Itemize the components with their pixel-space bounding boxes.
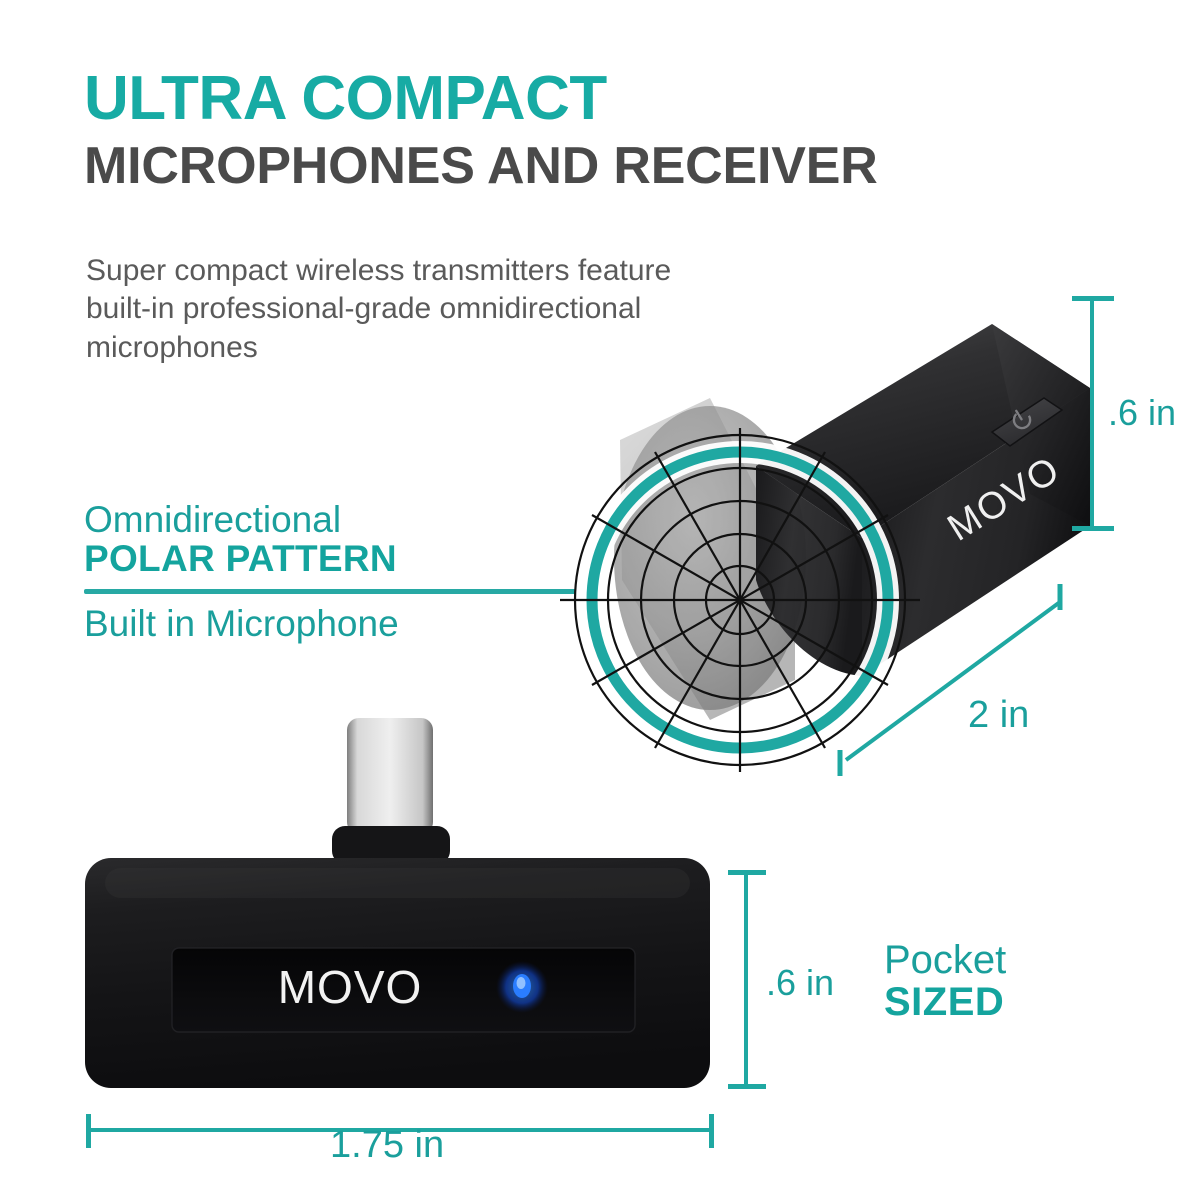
dim-cap-top-tx xyxy=(1072,296,1114,301)
dimension-label-transmitter-height: .6 in xyxy=(1108,392,1176,434)
dim-cap-left-rx xyxy=(86,1114,91,1148)
dim-cap-right-rx xyxy=(709,1114,714,1148)
polar-pattern-line2: POLAR PATTERN xyxy=(84,539,584,579)
dim-line-vertical-rx xyxy=(744,872,748,1088)
page-title-line1: ULTRA COMPACT xyxy=(84,68,607,130)
dim-cap-bottom-tx xyxy=(1072,526,1114,531)
dimension-label-receiver-width: 1.75 in xyxy=(330,1124,444,1167)
dim-cap-bottom-rx xyxy=(728,1084,766,1089)
dim-cap-top-rx xyxy=(728,870,766,875)
pocket-sized-callout: Pocket SIZED xyxy=(884,940,1006,1023)
page-title-line2: MICROPHONES AND RECEIVER xyxy=(84,140,878,192)
divider-rule xyxy=(84,589,576,594)
receiver-highlight xyxy=(105,868,690,898)
infographic-canvas: ULTRA COMPACT MICROPHONES AND RECEIVER S… xyxy=(0,0,1200,1200)
receiver-illustration: MOVO xyxy=(60,700,780,1120)
polar-pattern-line3: Built in Microphone xyxy=(84,604,584,645)
receiver-logo-text: MOVO xyxy=(278,961,423,1013)
receiver-device: MOVO xyxy=(60,700,780,1120)
dim-line-diagonal-tx xyxy=(820,560,1100,790)
dimension-label-receiver-height: .6 in xyxy=(766,962,834,1004)
pocket-label-line2: SIZED xyxy=(884,982,1006,1024)
usb-c-connector xyxy=(332,718,450,864)
status-led xyxy=(496,961,548,1013)
dimension-label-transmitter-length: 2 in xyxy=(968,694,1029,737)
dim-line-vertical-tx xyxy=(1090,298,1094,530)
pocket-label-line1: Pocket xyxy=(884,940,1006,982)
polar-pattern-callout: Omnidirectional POLAR PATTERN Built in M… xyxy=(84,500,584,645)
polar-pattern-line1: Omnidirectional xyxy=(84,500,584,539)
